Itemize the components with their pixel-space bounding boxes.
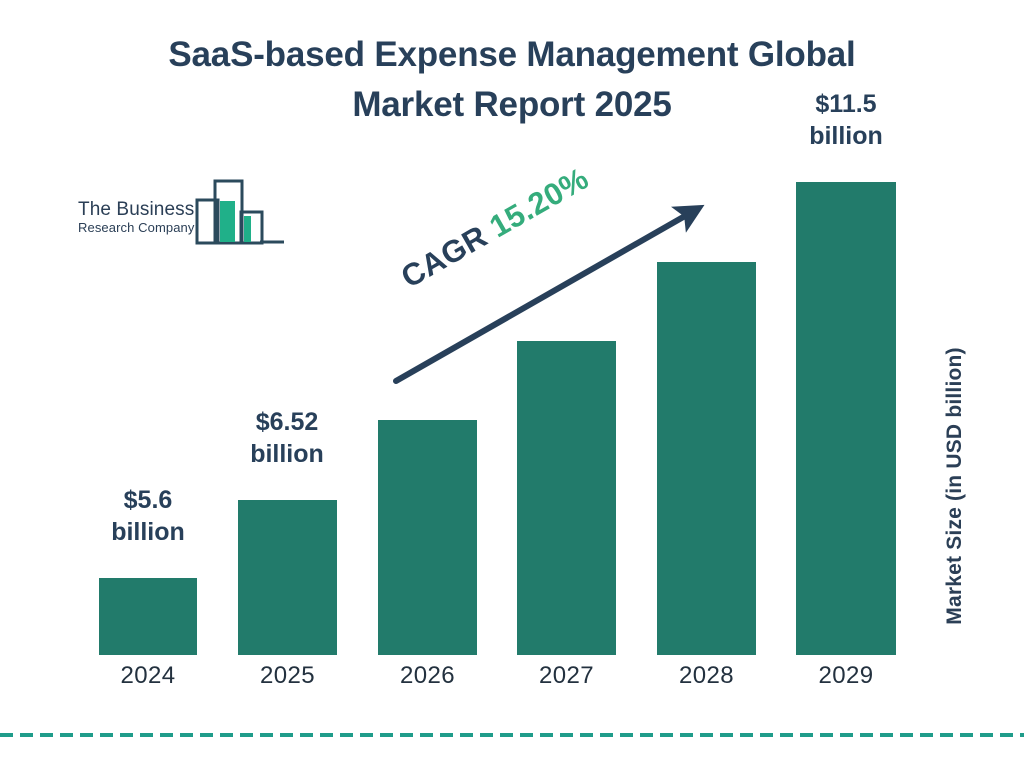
- x-axis-label-2027: 2027: [517, 662, 616, 690]
- y-axis-title: Market Size (in USD billion): [943, 321, 967, 651]
- bar-value-label-2024: $5.6 billion: [88, 484, 208, 548]
- bar-value-label-2029-unit: billion: [809, 122, 883, 150]
- bar-2029: [796, 182, 896, 655]
- bar-value-label-2029-amount: $11.5: [815, 90, 876, 118]
- bar-value-label-2025: $6.52 billion: [227, 406, 347, 470]
- bar-chart-plot: $5.6 billion $6.52 billion $11.5 billion…: [0, 0, 1024, 768]
- x-axis-label-2025: 2025: [238, 662, 337, 690]
- x-axis-label-2026: 2026: [378, 662, 477, 690]
- bar-value-label-2025-amount: $6.52: [256, 408, 319, 436]
- bar-2026: [378, 420, 477, 655]
- bar-2024: [99, 578, 197, 655]
- bar-value-label-2024-unit: billion: [111, 518, 185, 546]
- bar-2025: [238, 500, 337, 655]
- x-axis-label-2024: 2024: [99, 662, 197, 690]
- bar-value-label-2024-amount: $5.6: [124, 486, 173, 514]
- footer-divider: [0, 733, 1024, 737]
- bar-value-label-2025-unit: billion: [250, 440, 324, 468]
- x-axis-label-2028: 2028: [657, 662, 756, 690]
- chart-canvas: SaaS-based Expense Management Global Mar…: [0, 0, 1024, 768]
- x-axis-label-2029: 2029: [796, 662, 896, 690]
- bar-value-label-2029: $11.5 billion: [786, 88, 906, 152]
